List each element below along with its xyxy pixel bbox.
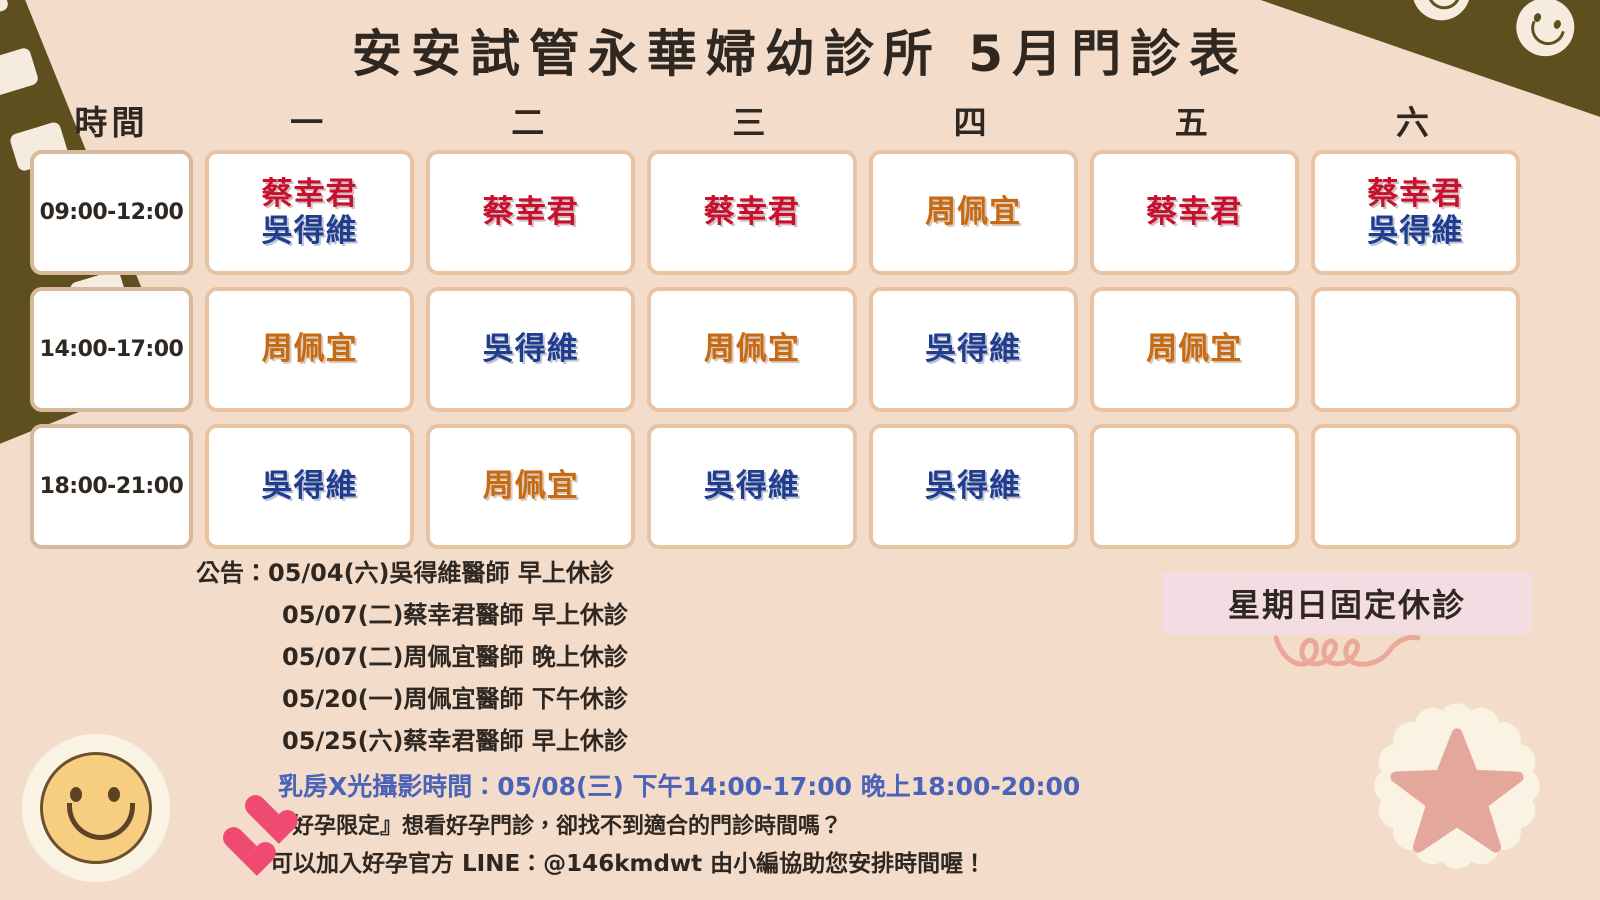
schedule-cell: 蔡幸君 [1090,150,1299,275]
announcement-text: 05/04(六)吳得維醫師 早上休診 [268,559,614,587]
doctor-name: 周佩宜 [1146,332,1242,367]
schedule-cell: 周佩宜 [205,287,414,412]
time-slot-cell: 18:00-21:00 [30,424,193,549]
announcement-item: 05/07(二)周佩宜醫師 晚上休診 [196,636,896,678]
schedule-cell: 蔡幸君 [647,150,856,275]
schedule-cell: 吳得維 [869,424,1078,549]
announcement-item: 05/07(二)蔡幸君醫師 早上休診 [196,594,896,636]
doctor-name: 周佩宜 [704,332,800,367]
time-slot-cell: 09:00-12:00 [30,150,193,275]
schedule-cell: 吳得維 [869,287,1078,412]
doctor-name: 蔡幸君 [1146,195,1242,230]
doctor-name: 蔡幸君 [704,195,800,230]
schedule-cell: 吳得維 [205,424,414,549]
doctor-name: 蔡幸君 [483,195,579,230]
doctor-name: 吳得維 [483,332,579,367]
squiggle-decoration [1272,630,1422,672]
column-header-thursday: 四 [867,96,1078,144]
announcement-item: 05/25(六)蔡幸君醫師 早上休診 [196,720,896,762]
doctor-name: 周佩宜 [925,195,1021,230]
sunday-closed-badge: 星期日固定休診 [1162,572,1532,634]
column-header-wednesday: 三 [645,96,856,144]
announcement-text: 05/07(二)周佩宜醫師 晚上休診 [282,643,628,671]
schedule-grid: 09:00-12:00蔡幸君吳得維蔡幸君蔡幸君周佩宜蔡幸君蔡幸君吳得維14:00… [30,150,1520,549]
promo-line-2: 可以加入好孕官方 LINE：@146kmdwt 由小編協助您安排時間喔！ [270,844,986,878]
column-header-time: 時間 [30,96,193,144]
schedule-cell: 蔡幸君吳得維 [1311,150,1520,275]
schedule-cell: 蔡幸君吳得維 [205,150,414,275]
doctor-name: 蔡幸君 [1367,177,1463,212]
time-slot-label: 18:00-21:00 [40,474,184,499]
flower-star-badge [1362,696,1552,876]
promo-line-1: 『好孕限定』想看好孕門診，卻找不到適合的門診時間嗎？ [270,808,842,840]
doctor-name: 周佩宜 [262,332,358,367]
heart-icon [222,828,262,864]
doctor-name: 周佩宜 [483,469,579,504]
time-slot-cell: 14:00-17:00 [30,287,193,412]
schedule-cell: 吳得維 [426,287,635,412]
time-slot-label: 14:00-17:00 [40,337,184,362]
column-header-tuesday: 二 [424,96,635,144]
doctor-name: 吳得維 [1367,214,1463,249]
doctor-name: 吳得維 [704,469,800,504]
doctor-name: 吳得維 [925,332,1021,367]
announcement-text: 05/07(二)蔡幸君醫師 早上休診 [282,601,628,629]
schedule-cell: 周佩宜 [647,287,856,412]
announcement-item: 05/20(一)周佩宜醫師 下午休診 [196,678,896,720]
announcements-list: 公告：05/04(六)吳得維醫師 早上休診05/07(二)蔡幸君醫師 早上休診0… [196,552,896,762]
announcement-item: 公告：05/04(六)吳得維醫師 早上休診 [196,552,896,594]
smiley-face-icon [22,734,170,882]
schedule-cell: 蔡幸君 [426,150,635,275]
doctor-name: 吳得維 [262,214,358,249]
schedule-cell: 周佩宜 [426,424,635,549]
doctor-name: 吳得維 [925,469,1021,504]
schedule-cell-empty [1311,287,1520,412]
schedule-cell: 周佩宜 [869,150,1078,275]
doctor-name: 吳得維 [262,469,358,504]
sunday-closed-label: 星期日固定休診 [1228,580,1466,626]
doctor-name: 蔡幸君 [262,177,358,212]
schedule-cell-empty [1090,424,1299,549]
page-title: 安安試管永華婦幼診所 5月門診表 [0,14,1600,86]
column-header-saturday: 六 [1309,96,1520,144]
schedule-cell-empty [1311,424,1520,549]
poster-canvas: 安安試管永華婦幼診所 5月門診表 時間 一 二 三 四 五 六 09:00-12… [0,0,1600,900]
column-header-monday: 一 [203,96,414,144]
announcements-label: 公告： [196,559,268,587]
schedule-table: 時間 一 二 三 四 五 六 09:00-12:00蔡幸君吳得維蔡幸君蔡幸君周佩… [30,96,1520,549]
announcement-text: 05/20(一)周佩宜醫師 下午休診 [282,685,628,713]
announcement-text: 05/25(六)蔡幸君醫師 早上休診 [282,727,628,755]
mammography-notice: 乳房X光攝影時間：05/08(三) 下午14:00-17:00 晚上18:00-… [278,767,1080,803]
schedule-header-row: 時間 一 二 三 四 五 六 [30,96,1520,144]
schedule-cell: 周佩宜 [1090,287,1299,412]
time-slot-label: 09:00-12:00 [40,200,184,225]
column-header-friday: 五 [1088,96,1299,144]
schedule-cell: 吳得維 [647,424,856,549]
